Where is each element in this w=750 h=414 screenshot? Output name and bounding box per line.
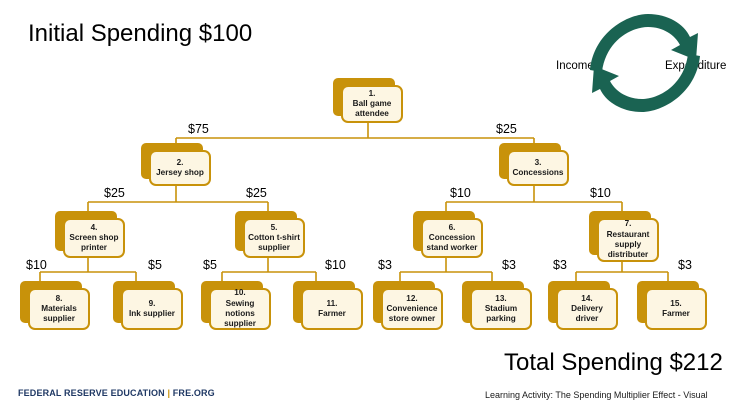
node-card: 6.Concessionstand worker <box>421 218 483 258</box>
node-label-12: 12.Conveniencestore owner <box>385 294 440 325</box>
node-label-13: 13.Stadiumparking <box>483 294 519 325</box>
edge-amount-2-5: $25 <box>246 186 267 200</box>
node-card: 9.Ink supplier <box>121 288 183 330</box>
edge-amount-4-9: $5 <box>148 258 162 272</box>
edge-amount-7-15: $3 <box>678 258 692 272</box>
tree-node-10[interactable]: 10.Sewingnotionssupplier <box>201 281 263 323</box>
edge-amount-1-2: $75 <box>188 122 209 136</box>
node-label-10: 10.Sewingnotionssupplier <box>222 288 258 329</box>
node-card: 8.Materialssupplier <box>28 288 90 330</box>
footer-site-text: FRE.ORG <box>173 388 215 398</box>
footer-separator: | <box>167 388 170 398</box>
tree-node-2[interactable]: 2.Jersey shop <box>141 143 203 179</box>
tree-node-1[interactable]: 1.Ball gameattendee <box>333 78 395 116</box>
node-label-1: 1.Ball gameattendee <box>351 89 394 120</box>
footer-brand-text: FEDERAL RESERVE EDUCATION <box>18 388 165 398</box>
edge-amount-3-6: $10 <box>450 186 471 200</box>
curved-arrow-right-icon <box>590 14 698 72</box>
tree-node-3[interactable]: 3.Concessions <box>499 143 561 179</box>
tree-node-15[interactable]: 15.Farmer <box>637 281 699 323</box>
node-label-7: 7.Restaurantsupplydistributer <box>605 219 652 260</box>
edge-amount-6-13: $3 <box>502 258 516 272</box>
node-label-3: 3.Concessions <box>511 158 566 179</box>
node-label-5: 5.Cotton t-shirtsupplier <box>246 223 302 254</box>
node-card: 2.Jersey shop <box>149 150 211 186</box>
node-card: 14.Delivery driver <box>556 288 618 330</box>
edge-amount-1-3: $25 <box>496 122 517 136</box>
edge-amount-3-7: $10 <box>590 186 611 200</box>
tree-node-12[interactable]: 12.Conveniencestore owner <box>373 281 435 323</box>
edge-amount-7-14: $3 <box>553 258 567 272</box>
node-card: 5.Cotton t-shirtsupplier <box>243 218 305 258</box>
edge-amount-5-10: $5 <box>203 258 217 272</box>
node-card: 12.Conveniencestore owner <box>381 288 443 330</box>
page-title-total-spending: Total Spending $212 <box>504 349 723 377</box>
tree-node-11[interactable]: 11.Farmer <box>293 281 355 323</box>
edge-amount-2-4: $25 <box>104 186 125 200</box>
node-label-14: 14.Delivery driver <box>558 294 616 325</box>
node-card: 3.Concessions <box>507 150 569 186</box>
node-card: 1.Ball gameattendee <box>341 85 403 123</box>
node-label-11: 11.Farmer <box>316 299 348 320</box>
edge-amount-6-12: $3 <box>378 258 392 272</box>
node-card: 15.Farmer <box>645 288 707 330</box>
tree-node-14[interactable]: 14.Delivery driver <box>548 281 610 323</box>
node-card: 13.Stadiumparking <box>470 288 532 330</box>
node-label-6: 6.Concessionstand worker <box>425 223 480 254</box>
node-label-4: 4.Screen shopprinter <box>67 223 120 254</box>
tree-node-4[interactable]: 4.Screen shopprinter <box>55 211 117 251</box>
tree-node-13[interactable]: 13.Stadiumparking <box>462 281 524 323</box>
income-expenditure-cycle-icon <box>580 8 710 118</box>
tree-node-7[interactable]: 7.Restaurantsupplydistributer <box>589 211 651 255</box>
node-card: 10.Sewingnotionssupplier <box>209 288 271 330</box>
tree-node-8[interactable]: 8.Materialssupplier <box>20 281 82 323</box>
node-label-8: 8.Materialssupplier <box>39 294 79 325</box>
tree-node-5[interactable]: 5.Cotton t-shirtsupplier <box>235 211 297 251</box>
node-label-9: 9.Ink supplier <box>127 299 177 320</box>
edge-amount-5-11: $10 <box>325 258 346 272</box>
edge-amount-4-8: $10 <box>26 258 47 272</box>
node-card: 7.Restaurantsupplydistributer <box>597 218 659 262</box>
node-card: 11.Farmer <box>301 288 363 330</box>
node-card: 4.Screen shopprinter <box>63 218 125 258</box>
page-title-initial-spending: Initial Spending $100 <box>28 20 252 48</box>
footer-brand: FEDERAL RESERVE EDUCATION | FRE.ORG <box>18 388 215 398</box>
tree-node-6[interactable]: 6.Concessionstand worker <box>413 211 475 251</box>
footer-activity: Learning Activity: The Spending Multipli… <box>485 390 708 400</box>
tree-node-9[interactable]: 9.Ink supplier <box>113 281 175 323</box>
node-label-15: 15.Farmer <box>660 299 692 320</box>
curved-arrow-left-icon <box>592 54 700 112</box>
slide-canvas: Initial Spending $100 Total Spending $21… <box>0 0 750 414</box>
node-label-2: 2.Jersey shop <box>154 158 206 179</box>
